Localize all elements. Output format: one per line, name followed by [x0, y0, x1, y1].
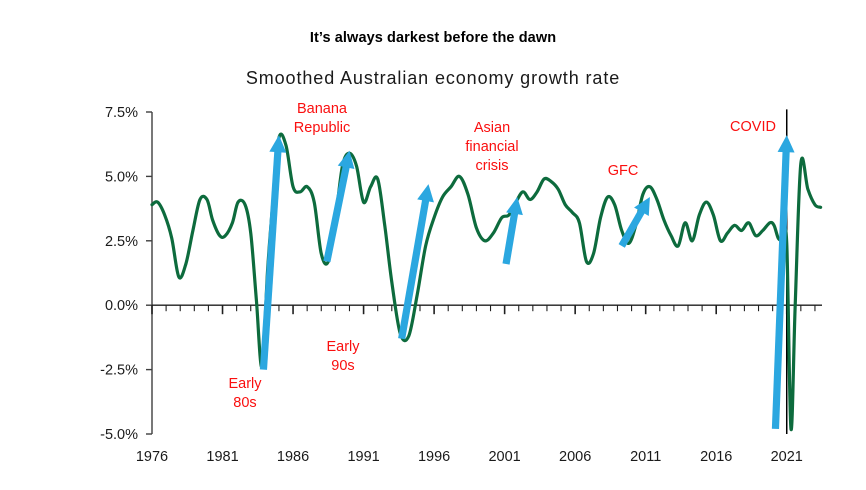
- y-axis-tick-label: -5.0%: [100, 427, 138, 443]
- x-axis-tick-label: 1991: [347, 449, 379, 465]
- annotation-banana-republic: BananaRepublic: [294, 101, 350, 136]
- arrow-asian-financial-crisis: [506, 197, 523, 264]
- line-chart-plot: 7.5%5.0%2.5%0.0%-2.5%-5.0% 1976198119861…: [0, 0, 866, 490]
- x-axis-tick-label: 2011: [630, 449, 661, 465]
- x-axis-tick-label: 2006: [559, 449, 591, 465]
- chart-annotations: Early80sBananaRepublicEarly90sAsianfinan…: [228, 101, 775, 411]
- recovery-arrows: [263, 135, 794, 429]
- x-axis-tick-label: 1976: [136, 449, 168, 465]
- arrow-head: [506, 197, 523, 215]
- x-axis-tick-label: 1981: [206, 449, 238, 465]
- annotation-gfc: GFC: [608, 163, 639, 179]
- annotation-covid: COVID: [730, 119, 776, 135]
- y-axis-tick-label: 0.0%: [105, 298, 138, 314]
- arrow-head: [417, 184, 434, 202]
- arrow-early-80s: [263, 135, 286, 369]
- arrow-shaft: [506, 211, 515, 264]
- y-axis-tick-label: 2.5%: [105, 234, 138, 250]
- arrow-gfc: [622, 197, 650, 246]
- y-axis-tick-label: 5.0%: [105, 169, 138, 185]
- chart-figure: It’s always darkest before the dawn Smoo…: [0, 0, 866, 490]
- arrow-head: [778, 135, 795, 152]
- x-axis-tick-label: 1986: [277, 449, 309, 465]
- x-axis-tick-label: 1996: [418, 449, 450, 465]
- y-axis: 7.5%5.0%2.5%0.0%-2.5%-5.0%: [100, 105, 152, 443]
- annotation-early-90s: Early90s: [326, 339, 360, 374]
- x-axis-tick-label: 2016: [700, 449, 732, 465]
- annotation-early-80s: Early80s: [228, 376, 262, 411]
- x-axis-tick-label: 2021: [771, 449, 803, 465]
- y-axis-tick-label: 7.5%: [105, 105, 138, 121]
- arrow-shaft: [327, 164, 347, 261]
- arrow-early-90s: [402, 184, 434, 339]
- arrow-shaft: [263, 149, 278, 369]
- y-axis-tick-label: -2.5%: [100, 363, 138, 379]
- annotation-asian-financial-crisis: Asianfinancialcrisis: [465, 120, 518, 174]
- x-axis-tick-label: 2001: [488, 449, 520, 465]
- arrow-shaft: [775, 149, 786, 429]
